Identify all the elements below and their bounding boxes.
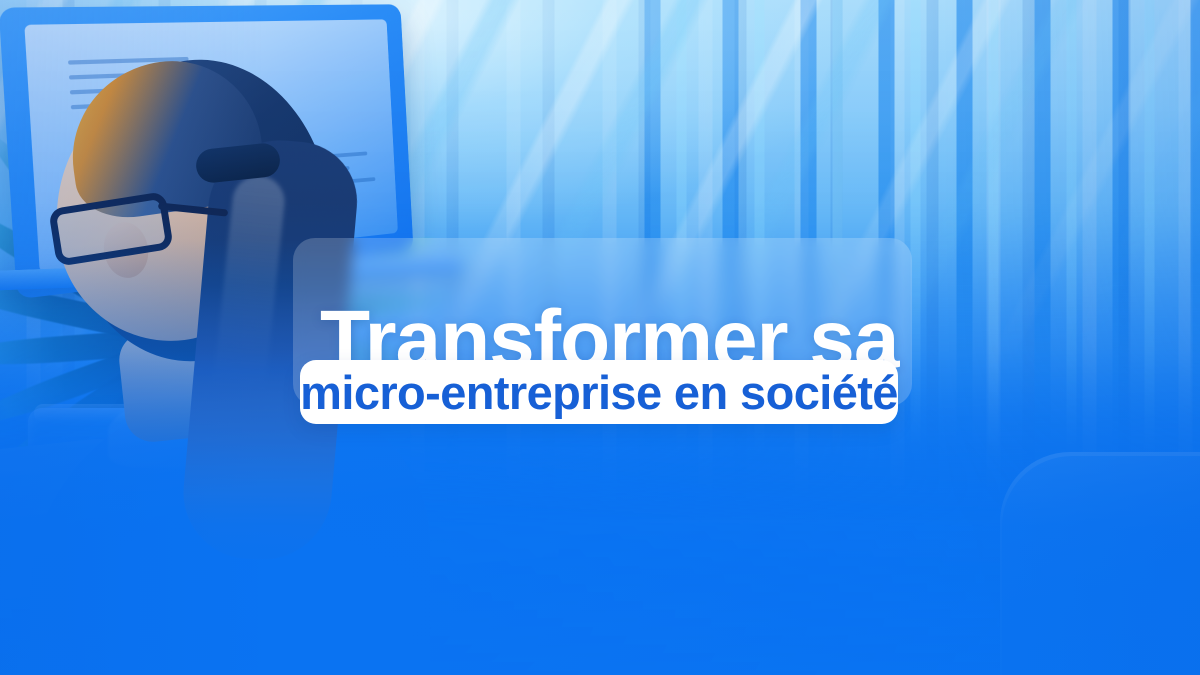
banner-subtitle: micro-entreprise en société	[300, 369, 898, 416]
hero-banner: Transformer sa micro-entreprise en socié…	[0, 0, 1200, 675]
subtitle-box: micro-entreprise en société	[300, 360, 898, 424]
